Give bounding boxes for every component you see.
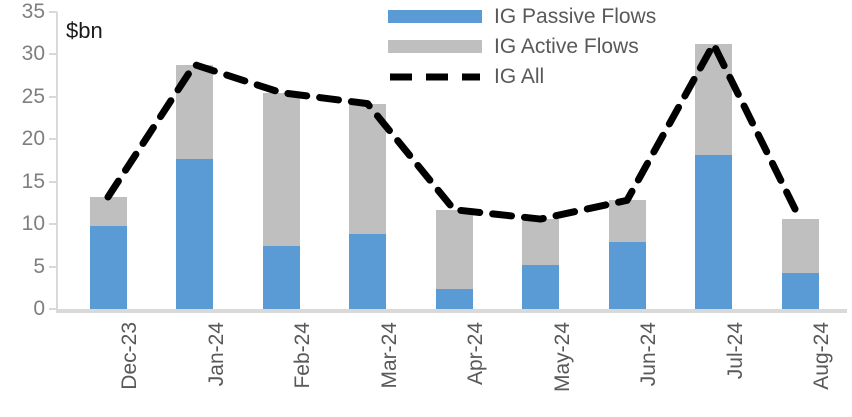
bar-column[interactable] xyxy=(176,12,213,309)
bar-segment-passive[interactable] xyxy=(695,155,732,309)
y-axis-tick xyxy=(49,53,57,55)
bar-segment-passive[interactable] xyxy=(609,242,646,309)
x-axis-tick-label: May-24 xyxy=(552,322,573,392)
x-axis-tick-label: Jul-24 xyxy=(725,322,746,379)
x-axis-tick-label: Feb-24 xyxy=(292,322,313,389)
y-axis-tick xyxy=(49,181,57,183)
bar-segment-passive[interactable] xyxy=(90,226,127,309)
x-axis-tick-label: Jun-24 xyxy=(638,322,659,386)
bar-segment-passive[interactable] xyxy=(349,234,386,309)
bar-segment-passive[interactable] xyxy=(176,159,213,309)
bar-segment-passive[interactable] xyxy=(436,289,473,309)
bar-segment-passive[interactable] xyxy=(782,273,819,309)
x-axis-tick-label: Jan-24 xyxy=(206,322,227,386)
bar-column[interactable] xyxy=(349,12,386,309)
bar-segment-active[interactable] xyxy=(349,104,386,235)
bar-column[interactable] xyxy=(90,12,127,309)
y-axis-tick-label: 0 xyxy=(0,298,45,319)
bar-segment-active[interactable] xyxy=(263,93,300,247)
bar-column[interactable] xyxy=(609,12,646,309)
bar-segment-passive[interactable] xyxy=(263,246,300,309)
x-axis-tick-label: Apr-24 xyxy=(465,322,486,385)
bar-column[interactable] xyxy=(263,12,300,309)
y-axis-tick xyxy=(49,138,57,140)
y-axis-tick xyxy=(49,96,57,98)
y-axis-tick-label: 35 xyxy=(0,1,45,22)
y-axis-tick-label: 10 xyxy=(0,213,45,234)
x-axis-tick-label: Dec-23 xyxy=(119,322,140,390)
y-axis-tick-label: 20 xyxy=(0,128,45,149)
bar-column[interactable] xyxy=(522,12,559,309)
bar-column[interactable] xyxy=(695,12,732,309)
x-axis-tick-label: Mar-24 xyxy=(379,322,400,389)
chart-container: $bn IG Passive Flows IG Active Flows IG … xyxy=(0,0,852,417)
bar-segment-active[interactable] xyxy=(176,65,213,159)
bar-segment-active[interactable] xyxy=(522,219,559,265)
x-axis-tick-label: Aug-24 xyxy=(811,322,832,390)
bar-segment-active[interactable] xyxy=(695,44,732,154)
y-axis-tick xyxy=(49,266,57,268)
bars-layer xyxy=(57,12,847,309)
bar-segment-active[interactable] xyxy=(609,200,646,242)
y-axis-tick xyxy=(49,11,57,13)
y-axis-tick xyxy=(49,223,57,225)
bar-segment-active[interactable] xyxy=(436,210,473,290)
bar-segment-active[interactable] xyxy=(90,197,127,226)
bar-segment-passive[interactable] xyxy=(522,265,559,309)
y-axis-tick-label: 25 xyxy=(0,86,45,107)
y-axis-tick-label: 30 xyxy=(0,43,45,64)
y-axis-tick-label: 5 xyxy=(0,256,45,277)
bar-segment-active[interactable] xyxy=(782,219,819,273)
bar-column[interactable] xyxy=(782,12,819,309)
bar-column[interactable] xyxy=(436,12,473,309)
y-axis-tick-label: 15 xyxy=(0,171,45,192)
x-axis-line xyxy=(56,309,847,313)
